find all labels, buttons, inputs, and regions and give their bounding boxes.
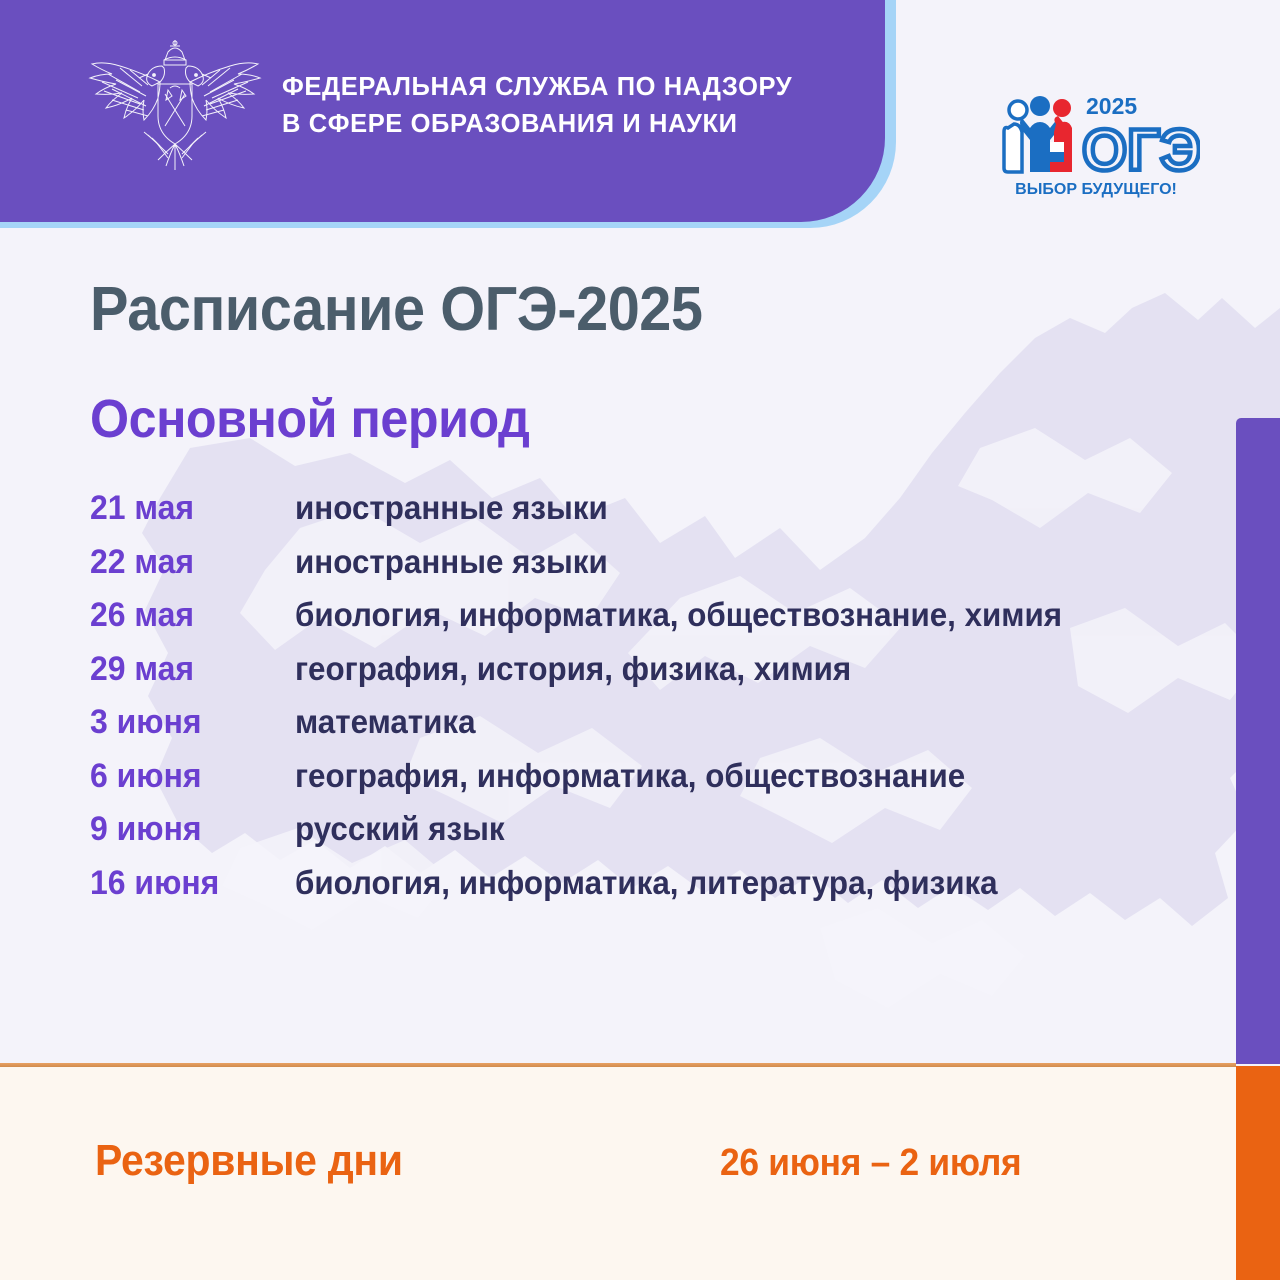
schedule-row: 9 июня русский язык	[90, 807, 1200, 853]
schedule-subjects: иностранные языки	[295, 540, 1155, 584]
schedule-subjects: иностранные языки	[295, 486, 1155, 530]
schedule-date: 26 мая	[90, 593, 283, 639]
schedule-date: 22 мая	[90, 540, 283, 586]
schedule-subjects: биология, информатика, литература, физик…	[295, 861, 1155, 905]
logo-abbr: ОГЭ	[1082, 118, 1200, 183]
right-purple-bar	[1236, 418, 1280, 1064]
schedule-row: 26 мая биология, информатика, обществозн…	[90, 593, 1200, 639]
logo-year: 2025	[1086, 93, 1137, 119]
schedule-list: 21 мая иностранные языки 22 мая иностран…	[90, 486, 1200, 914]
oge-2025-logo: 2025 ОГЭ ВЫБОР БУДУЩЕГО!	[996, 88, 1200, 200]
schedule-date: 6 июня	[90, 754, 283, 800]
schedule-subjects: география, информатика, обществознание	[295, 754, 1155, 798]
reserve-days-dates: 26 июня – 2 июля	[720, 1142, 1021, 1185]
main-content: Расписание ОГЭ-2025 Основной период 21 м…	[0, 228, 1236, 1064]
poster-canvas: ФЕДЕРАЛЬНАЯ СЛУЖБА ПО НАДЗОРУ В СФЕРЕ ОБ…	[0, 0, 1280, 1280]
agency-name-line1: ФЕДЕРАЛЬНАЯ СЛУЖБА ПО НАДЗОРУ	[282, 69, 792, 106]
schedule-row: 16 июня биология, информатика, литератур…	[90, 861, 1200, 907]
schedule-date: 16 июня	[90, 861, 283, 907]
right-orange-bar	[1236, 1066, 1280, 1280]
schedule-date: 29 мая	[90, 647, 283, 693]
schedule-subjects: математика	[295, 700, 1155, 744]
double-headed-eagle-icon	[82, 38, 268, 174]
logo-tagline: ВЫБОР БУДУЩЕГО!	[1015, 181, 1177, 198]
section-title: Основной период	[90, 388, 529, 450]
schedule-subjects: биология, информатика, обществознание, х…	[295, 593, 1155, 637]
schedule-subjects: русский язык	[295, 807, 1155, 851]
schedule-row: 21 мая иностранные языки	[90, 486, 1200, 532]
agency-name: ФЕДЕРАЛЬНАЯ СЛУЖБА ПО НАДЗОРУ В СФЕРЕ ОБ…	[282, 69, 792, 143]
reserve-days-label: Резервные дни	[95, 1136, 403, 1186]
page-title: Расписание ОГЭ-2025	[90, 274, 703, 345]
figures-icon	[1004, 96, 1072, 172]
schedule-row: 3 июня математика	[90, 700, 1200, 746]
schedule-row: 6 июня география, информатика, обществоз…	[90, 754, 1200, 800]
schedule-row: 29 мая география, история, физика, химия	[90, 647, 1200, 693]
agency-name-line2: В СФЕРЕ ОБРАЗОВАНИЯ И НАУКИ	[282, 106, 792, 143]
schedule-date: 9 июня	[90, 807, 283, 853]
header-banner: ФЕДЕРАЛЬНАЯ СЛУЖБА ПО НАДЗОРУ В СФЕРЕ ОБ…	[0, 0, 885, 222]
schedule-date: 3 июня	[90, 700, 283, 746]
schedule-subjects: география, история, физика, химия	[295, 647, 1155, 691]
schedule-row: 22 мая иностранные языки	[90, 540, 1200, 586]
schedule-date: 21 мая	[90, 486, 283, 532]
